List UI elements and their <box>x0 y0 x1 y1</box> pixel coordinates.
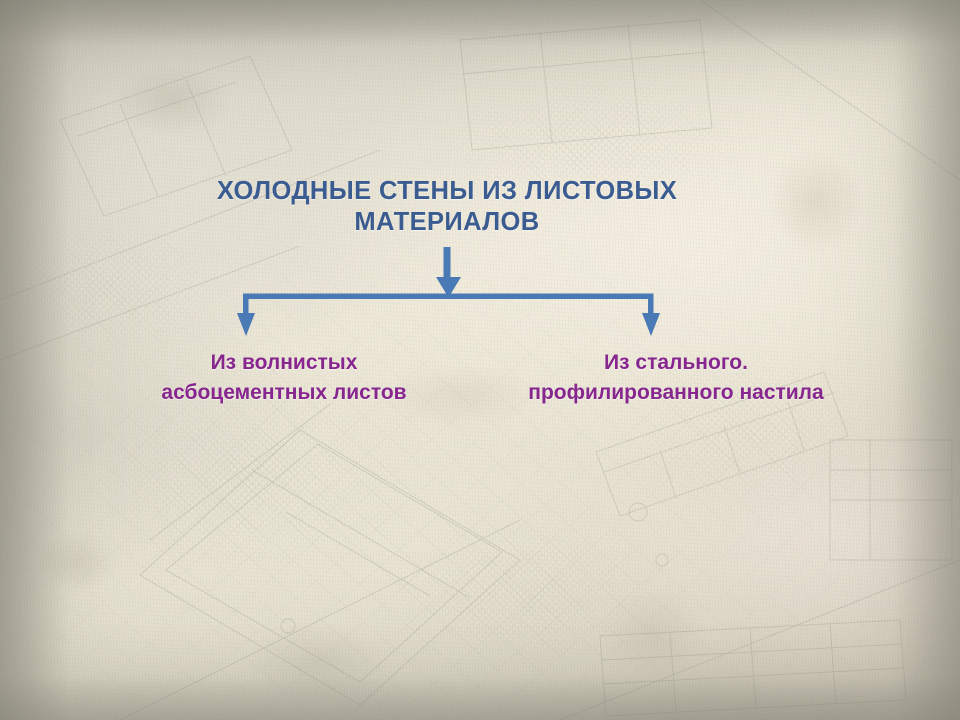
diagram-branch-right: Из стального. профилированного настила <box>486 348 866 408</box>
arrow-down-stem <box>436 247 461 298</box>
slide-canvas: ХОЛОДНЫЕ СТЕНЫ ИЗ ЛИСТОВЫХ МАТЕРИАЛОВ <box>0 0 960 720</box>
diagram-branch-left: Из волнистых асбоцементных листов <box>104 348 464 408</box>
arrow-down-left-branch <box>237 294 255 337</box>
arrow-down-right-branch <box>642 294 660 337</box>
diagram-content: ХОЛОДНЫЕ СТЕНЫ ИЗ ЛИСТОВЫХ МАТЕРИАЛОВ <box>0 0 960 720</box>
crossbar <box>243 294 653 300</box>
